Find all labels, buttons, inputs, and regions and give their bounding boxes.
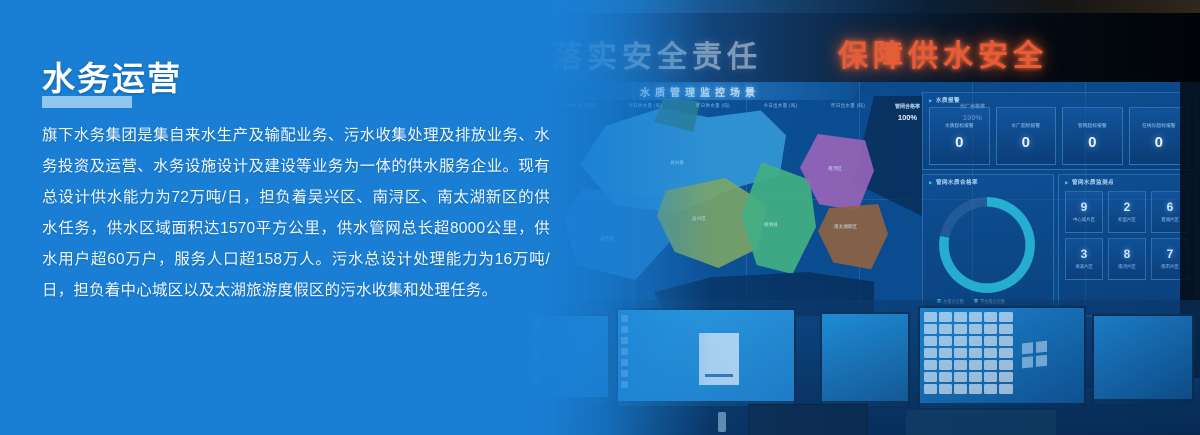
monitoring-point-grid: 9 中心城片区 2 织里片区 6 菱湖片区 3: [1065, 191, 1189, 280]
desktop-icon-column: [621, 315, 630, 399]
point-count: 7: [1167, 248, 1174, 260]
desk-monitor-4: [918, 306, 1086, 410]
alarm-card[interactable]: 水厂超标报警 0: [996, 107, 1057, 165]
dashboard-scene-title: 水质管理监控场景: [640, 84, 760, 99]
windows-logo-icon: [1022, 341, 1048, 370]
panel-title: 管网水质合格率: [929, 178, 978, 186]
document-window: [699, 333, 739, 385]
alarm-card-value: 0: [1022, 135, 1030, 150]
point-label: 南浔片区: [1118, 264, 1136, 270]
map-label: 南太湖新区: [834, 224, 857, 230]
map-label: 德清县: [764, 222, 778, 228]
point-label: 练市片区: [1161, 264, 1179, 270]
stat-label: 昨日出水量 (吨): [818, 103, 878, 109]
map-label: 长兴县: [670, 160, 684, 166]
alarm-card-value: 0: [1088, 135, 1096, 150]
alarm-card-label: 在线仪超标报警: [1142, 122, 1176, 129]
alarm-card-value: 0: [1155, 135, 1163, 150]
intro-paragraph: 旗下水务集团是集自来水生产及输配业务、污水收集处理及排放业务、水务投资及运营、水…: [42, 120, 550, 306]
water-quality-alarm-panel: 水质报警 水质超标报警 0 水厂超标报警 0 管网超标报警 0: [922, 92, 1196, 170]
point-count: 6: [1167, 201, 1174, 213]
stat-item: 昨日供水量 (吨): [683, 103, 743, 129]
taskbar: [1094, 399, 1192, 404]
operator-desk: [520, 300, 1200, 435]
keyboard: [748, 404, 868, 435]
point-count: 8: [1124, 248, 1131, 260]
map-label: 安吉县: [600, 236, 614, 242]
dashboard-right-panels: 水质报警 水质超标报警 0 水厂超标报警 0 管网超标报警 0: [922, 92, 1194, 314]
alarm-card-label: 水厂超标报警: [1011, 122, 1040, 129]
panel-title: 管网水质监测点: [1065, 178, 1114, 186]
stat-item: 今日供水量 (吨): [616, 103, 676, 129]
stat-label: 今日出水量 (吨): [751, 103, 811, 109]
pipeline-quality-rate-panel: 管网水质合格率 合格点位数 不合格点位数: [922, 174, 1054, 316]
stat-label: 昨日供水量 (吨): [683, 103, 743, 109]
stat-item: 昨日出水量 (吨): [818, 103, 878, 129]
desk-document: [906, 410, 1056, 435]
control-room-photo: 落实安全责任 保障供水安全 水质管理监控场景 市区供水量 (万吨) 今日供水量 …: [520, 0, 1200, 435]
led-slogan-right: 保障供水安全: [838, 31, 1048, 75]
map-label: 吴兴区: [692, 216, 706, 222]
point-count: 2: [1124, 201, 1131, 213]
desk-monitor-5: [1092, 314, 1194, 406]
stat-item: 今日出水量 (吨): [751, 103, 811, 129]
monitoring-point-cell[interactable]: 8 南浔片区: [1108, 238, 1146, 280]
stat-label: 今日供水量 (吨): [616, 103, 676, 109]
point-label: 菱湖片区: [1161, 217, 1179, 223]
alarm-card-grid: 水质超标报警 0 水厂超标报警 0 管网超标报警 0 在线仪超标报警: [929, 107, 1189, 165]
alarm-card-label: 管网超标报警: [1078, 122, 1107, 129]
intro-text-column: 水务运营 旗下水务集团是集自来水生产及输配业务、污水收集处理及排放业务、水务投资…: [0, 0, 600, 435]
desktop-icon-grid: [924, 312, 1013, 402]
alarm-card-value: 0: [955, 135, 963, 150]
point-count: 3: [1081, 248, 1088, 260]
panel-title: 水质报警: [929, 96, 960, 104]
water-bottle: [718, 412, 726, 432]
desk-monitor-3: [820, 312, 910, 408]
desk-monitor-2: [616, 308, 796, 408]
alarm-card[interactable]: 管网超标报警 0: [1062, 107, 1123, 165]
taskbar: [920, 403, 1084, 408]
page-title: 水务运营: [42, 52, 182, 100]
point-label: 织里片区: [1118, 217, 1136, 223]
title-underline-rule: [42, 96, 132, 108]
point-label: 中心城片区: [1073, 217, 1095, 223]
map-region-brown: [818, 204, 888, 272]
monitoring-point-cell[interactable]: 2 织里片区: [1108, 191, 1146, 233]
quality-rate-donut-chart: [939, 197, 1035, 293]
alarm-card-label: 水质超标报警: [945, 122, 974, 129]
monitoring-point-panel: 管网水质监测点 9 中心城片区 2 织里片区 6 菱湖片区: [1058, 174, 1196, 316]
video-wall-dashboard: 水质管理监控场景 市区供水量 (万吨) 今日供水量 (吨) 昨日供水量 (吨) …: [520, 78, 1200, 318]
monitoring-point-cell[interactable]: 9 中心城片区: [1065, 191, 1103, 233]
water-operations-banner: 落实安全责任 保障供水安全 水质管理监控场景 市区供水量 (万吨) 今日供水量 …: [0, 0, 1200, 435]
point-count: 9: [1081, 201, 1088, 213]
monitoring-point-cell[interactable]: 3 埭溪片区: [1065, 238, 1103, 280]
point-label: 埭溪片区: [1075, 264, 1093, 270]
map-label: 南浔区: [828, 166, 842, 172]
alarm-card[interactable]: 水质超标报警 0: [929, 107, 990, 165]
